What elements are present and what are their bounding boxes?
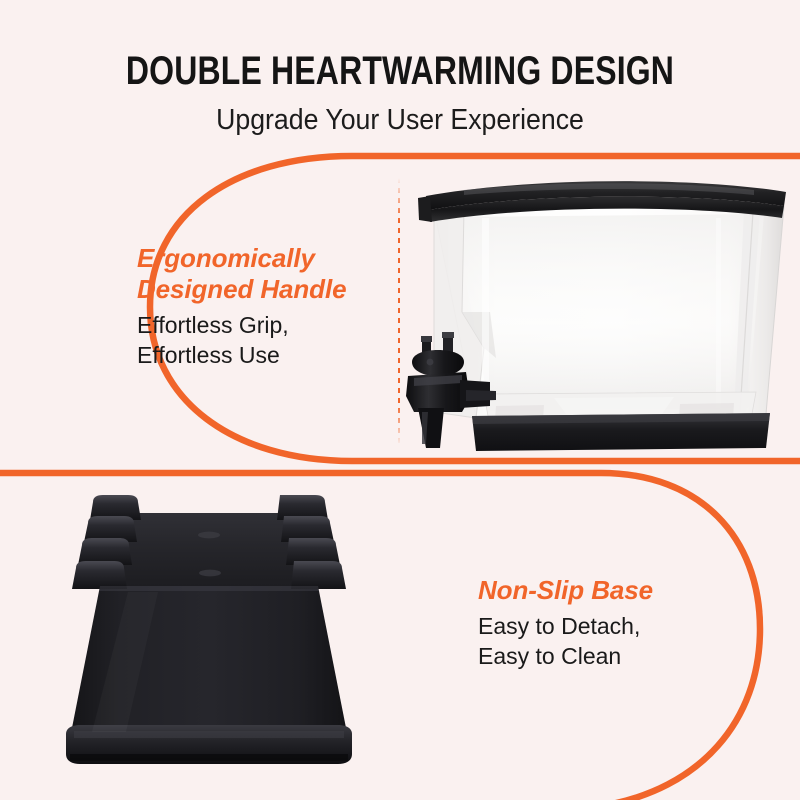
base-deck-edge-highlight <box>99 586 319 591</box>
product-feature-infographic: DOUBLE HEARTWARMING DESIGN Upgrade Your … <box>0 0 800 800</box>
callout-non-slip-base: Non-Slip Base Easy to Detach, Easy to Cl… <box>478 575 728 671</box>
base-tab <box>78 538 132 565</box>
spigot-nozzle <box>418 408 444 448</box>
callout-body: Easy to Detach, Easy to Clean <box>478 611 728 671</box>
dispenser-highlight-right <box>716 218 721 408</box>
spigot-lever-right-cap <box>442 332 454 338</box>
dispenser-lid-left-tab <box>418 196 432 222</box>
callout-heading: Ergonomically Designed Handle <box>137 243 387 305</box>
page-subtitle: Upgrade Your User Experience <box>32 103 768 137</box>
callout-heading: Non-Slip Base <box>478 575 728 606</box>
base-bottom-rail-shadow <box>70 754 348 761</box>
base-deck-mark <box>198 532 220 539</box>
spigot-collar-screw <box>427 359 434 366</box>
product-image-beverage-dispenser <box>404 162 800 470</box>
base-tab <box>291 561 346 589</box>
callout-ergonomic-handle: Ergonomically Designed Handle Effortless… <box>137 243 387 370</box>
header: DOUBLE HEARTWARMING DESIGN Upgrade Your … <box>0 0 800 148</box>
callout-body: Effortless Grip, Effortless Use <box>137 310 387 370</box>
page-title: DOUBLE HEARTWARMING DESIGN <box>80 49 720 93</box>
vertical-dashed-divider <box>398 178 400 446</box>
spigot-lever-left-cap <box>421 336 432 342</box>
base-bottom-rail-highlight <box>74 731 344 738</box>
base-tab <box>72 561 127 589</box>
dispenser-bottom-bevel <box>554 397 674 414</box>
base-deck-mark <box>199 570 221 577</box>
product-image-non-slip-base <box>8 482 408 774</box>
dispenser-highlight-left <box>482 218 489 408</box>
spigot-connector-step <box>466 390 496 401</box>
spigot-collar <box>412 350 464 376</box>
base-tab <box>286 538 340 565</box>
